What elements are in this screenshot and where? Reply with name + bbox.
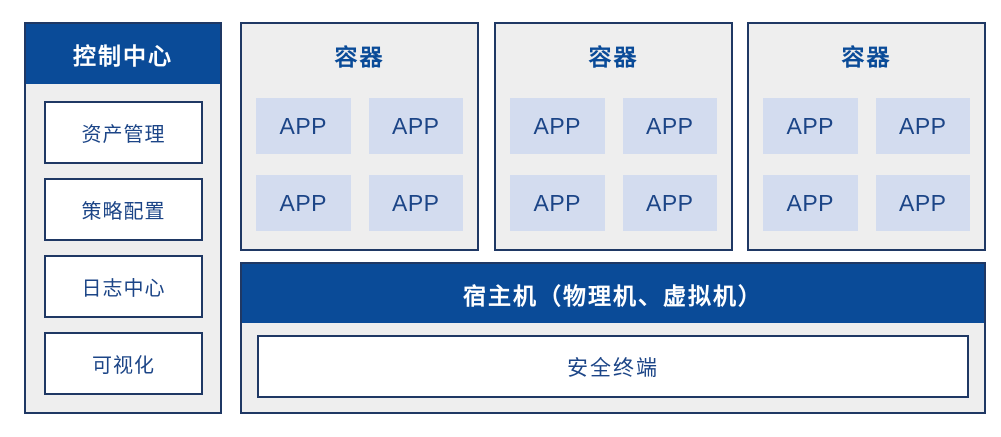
security-terminal-box[interactable]: 安全终端	[257, 335, 969, 398]
app-box[interactable]: APP	[623, 98, 718, 154]
app-box[interactable]: APP	[256, 98, 351, 154]
app-grid-1: APP APP APP APP	[242, 90, 477, 249]
app-grid-3: APP APP APP APP	[749, 90, 984, 249]
container-title-3: 容器	[749, 38, 984, 72]
container-title-2: 容器	[496, 38, 731, 72]
sidebar-item-asset-management[interactable]: 资产管理	[44, 101, 203, 164]
app-box[interactable]: APP	[256, 175, 351, 231]
container-title-1: 容器	[242, 38, 477, 72]
app-box[interactable]: APP	[876, 98, 971, 154]
app-box[interactable]: APP	[623, 175, 718, 231]
app-box[interactable]: APP	[369, 175, 464, 231]
app-box[interactable]: APP	[369, 98, 464, 154]
app-box[interactable]: APP	[763, 175, 858, 231]
sidebar-item-policy-configuration[interactable]: 策略配置	[44, 178, 203, 241]
control-center-panel: 控制中心 资产管理 策略配置 日志中心 可视化	[24, 22, 222, 414]
sidebar-item-visualization[interactable]: 可视化	[44, 332, 203, 395]
host-machine-title: 宿主机（物理机、虚拟机）	[242, 264, 984, 323]
app-box[interactable]: APP	[510, 98, 605, 154]
container-panel-3: 容器 APP APP APP APP	[747, 22, 986, 251]
sidebar-item-log-center[interactable]: 日志中心	[44, 255, 203, 318]
app-box[interactable]: APP	[763, 98, 858, 154]
control-center-title: 控制中心	[26, 24, 220, 84]
control-center-item-list: 资产管理 策略配置 日志中心 可视化	[26, 84, 220, 412]
host-machine-body: 安全终端	[242, 323, 984, 412]
host-machine-panel: 宿主机（物理机、虚拟机） 安全终端	[240, 262, 986, 414]
app-box[interactable]: APP	[510, 175, 605, 231]
container-panel-1: 容器 APP APP APP APP	[240, 22, 479, 251]
app-grid-2: APP APP APP APP	[496, 90, 731, 249]
container-panel-2: 容器 APP APP APP APP	[494, 22, 733, 251]
app-box[interactable]: APP	[876, 175, 971, 231]
